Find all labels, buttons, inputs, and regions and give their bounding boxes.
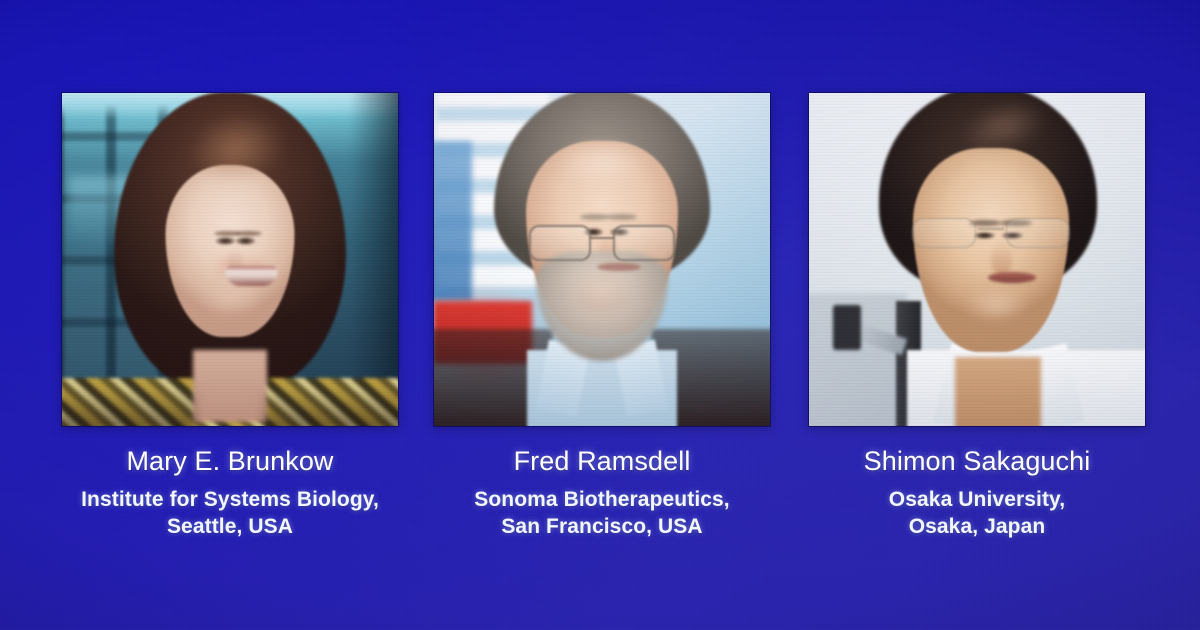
laureate-name: Shimon Sakaguchi (809, 446, 1145, 476)
eye-left (216, 237, 236, 245)
laureate-caption: Shimon Sakaguchi Osaka University, Osaka… (809, 446, 1145, 540)
mouth (597, 263, 641, 271)
eyeglasses (912, 218, 1070, 248)
eyebrow-left (580, 214, 610, 220)
neck (193, 350, 267, 422)
laureate-affiliation: Osaka University, Osaka, Japan (809, 486, 1145, 540)
chin-highlight (965, 287, 1029, 323)
forehead-highlight (556, 141, 648, 185)
laureate-name: Fred Ramsdell (434, 446, 770, 476)
affiliation-line-1: Institute for Systems Biology, (62, 486, 398, 513)
nobel-announcement-slide: Mary E. Brunkow Institute for Systems Bi… (0, 0, 1200, 630)
portrait-mary-e-brunkow (62, 93, 398, 426)
laureate-affiliation: Institute for Systems Biology, Seattle, … (62, 486, 398, 540)
lens-right (613, 225, 675, 261)
laureate-caption: Fred Ramsdell Sonoma Biotherapeutics, Sa… (434, 446, 770, 540)
portrait-fred-ramsdell (434, 93, 770, 426)
laureate-card: Mary E. Brunkow Institute for Systems Bi… (62, 93, 398, 540)
lens-left (529, 225, 591, 261)
eyebrow-right (607, 214, 637, 220)
affiliation-line-2: San Francisco, USA (434, 513, 770, 540)
affiliation-line-2: Seattle, USA (62, 513, 398, 540)
face (913, 148, 1069, 352)
laureate-affiliation: Sonoma Biotherapeutics, San Francisco, U… (434, 486, 770, 540)
laureate-row: Mary E. Brunkow Institute for Systems Bi… (0, 0, 1200, 630)
affiliation-line-2: Osaka, Japan (809, 513, 1145, 540)
affiliation-line-1: Osaka University, (809, 486, 1145, 513)
background-shadow (350, 93, 398, 426)
shoulder-right (265, 385, 398, 426)
lens-right (1006, 218, 1070, 248)
eyebrow-right (235, 231, 261, 236)
shoulder-left (62, 385, 195, 426)
laureate-card: Shimon Sakaguchi Osaka University, Osaka… (809, 93, 1145, 540)
mouth (988, 272, 1036, 283)
eyeglasses (527, 225, 677, 259)
lab-equipment-blue (434, 141, 472, 302)
affiliation-line-1: Sonoma Biotherapeutics, (434, 486, 770, 513)
eye-right (236, 237, 256, 245)
glasses-bridge (590, 237, 614, 239)
laureate-caption: Mary E. Brunkow Institute for Systems Bi… (62, 446, 398, 540)
face (166, 165, 295, 337)
laureate-name: Mary E. Brunkow (62, 446, 398, 476)
chin-highlight (195, 279, 265, 319)
portrait-shimon-sakaguchi (809, 93, 1145, 426)
equipment-dark-block (833, 305, 861, 350)
neck (955, 357, 1041, 426)
glasses-bridge (978, 228, 1004, 230)
lens-left (912, 218, 976, 248)
laureate-card: Fred Ramsdell Sonoma Biotherapeutics, Sa… (434, 93, 770, 540)
